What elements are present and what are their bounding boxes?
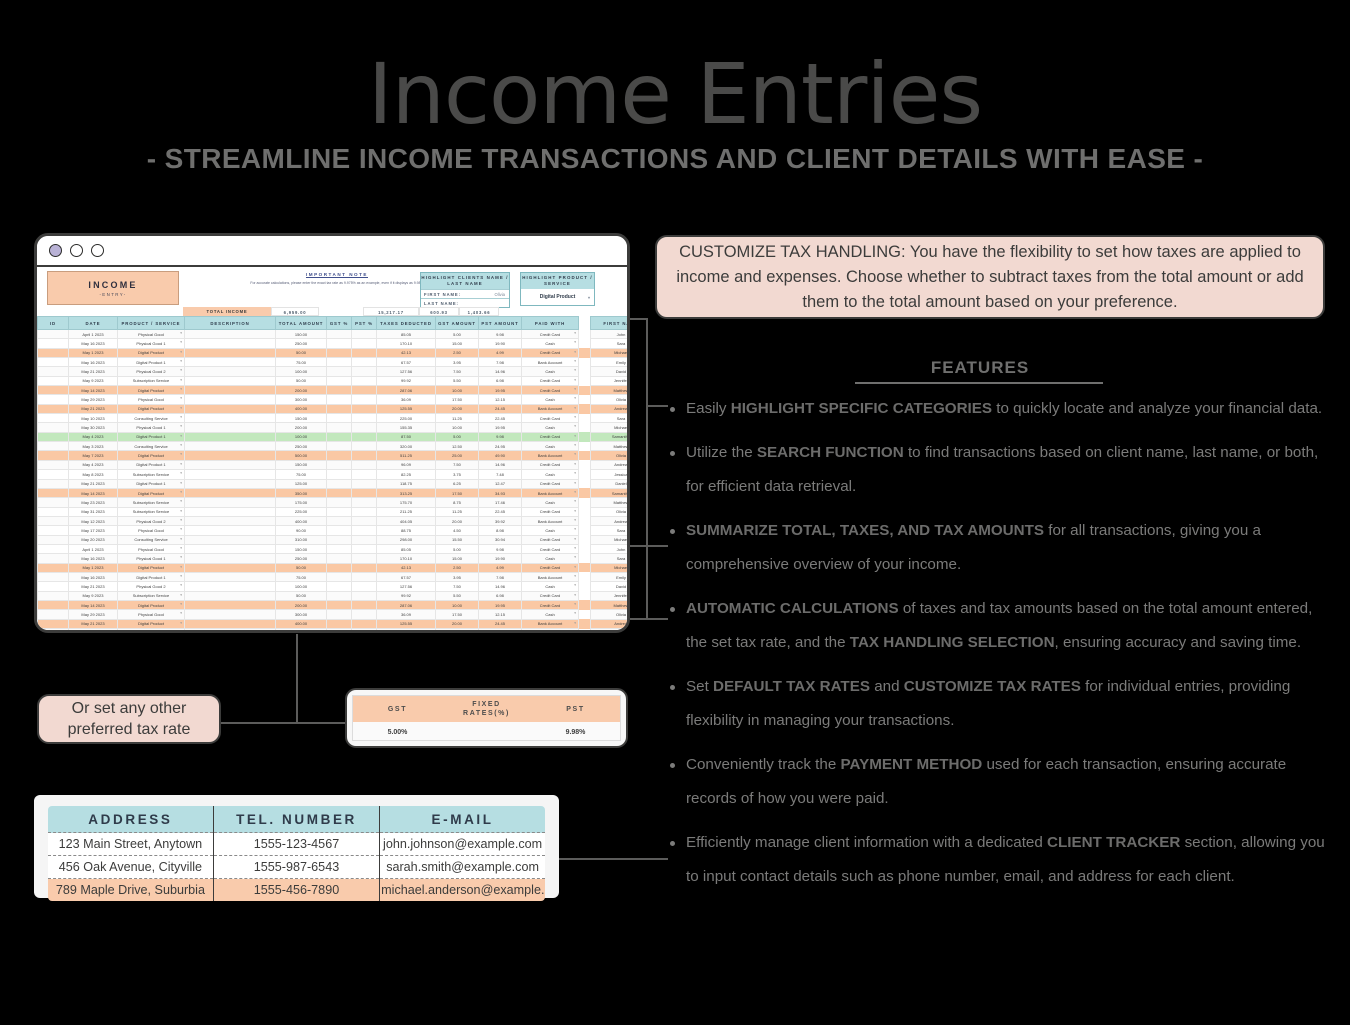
table-cell[interactable] xyxy=(327,535,352,544)
table-cell[interactable]: Jennifer xyxy=(591,376,628,385)
table-cell[interactable]: Daniel xyxy=(591,479,628,488)
col-paid-with[interactable]: PAID WITH xyxy=(522,317,579,330)
table-cell[interactable]: 511.25 xyxy=(377,451,436,460)
table-cell[interactable] xyxy=(352,395,377,404)
chevron-down-icon[interactable]: ▾ xyxy=(574,565,576,569)
table-cell[interactable] xyxy=(327,414,352,423)
chevron-down-icon[interactable]: ▾ xyxy=(574,350,576,354)
col-gst-pct[interactable]: GST % xyxy=(327,317,352,330)
table-cell[interactable]: Cash▾ xyxy=(522,554,579,563)
table-cell[interactable] xyxy=(579,619,591,628)
table-cell[interactable]: 14.96 xyxy=(479,367,522,376)
table-cell[interactable] xyxy=(352,432,377,441)
table-cell[interactable]: 14.96 xyxy=(479,582,522,591)
table-row[interactable]: May 1 2023Digital Product▾50.0042.132.50… xyxy=(38,348,628,357)
table-row[interactable]: May 4 2023Digital Product 1▾150.0096.097… xyxy=(38,460,628,469)
table-cell[interactable] xyxy=(327,386,352,395)
table-cell[interactable]: 20.00 xyxy=(436,619,479,628)
table-cell[interactable] xyxy=(327,544,352,553)
client-contact-table[interactable]: ADDRESS TEL. NUMBER E-MAIL 123 Main Stre… xyxy=(46,804,547,903)
first-name-value[interactable]: Olivia xyxy=(495,292,509,297)
table-cell[interactable] xyxy=(352,423,377,432)
chevron-down-icon[interactable]: ▾ xyxy=(180,527,182,531)
table-cell[interactable] xyxy=(38,507,69,516)
table-cell[interactable]: 211.25 xyxy=(377,507,436,516)
chevron-down-icon[interactable]: ▾ xyxy=(574,593,576,597)
table-cell[interactable] xyxy=(185,442,276,451)
table-cell[interactable]: Digital Product▾ xyxy=(118,600,185,609)
table-cell[interactable] xyxy=(327,600,352,609)
table-cell[interactable]: 500.00 xyxy=(276,451,327,460)
table-cell[interactable]: Andrew xyxy=(591,619,628,628)
highlight-clients-last-row[interactable]: LAST NAME: xyxy=(421,298,509,307)
table-row[interactable]: May 10 2023Consulting Service▾150.00225.… xyxy=(38,629,628,634)
chevron-down-icon[interactable]: ▾ xyxy=(180,424,182,428)
table-cell[interactable] xyxy=(38,563,69,572)
table-cell[interactable]: 404.05 xyxy=(377,516,436,525)
chevron-down-icon[interactable]: ▾ xyxy=(180,481,182,485)
chevron-down-icon[interactable]: ▾ xyxy=(180,462,182,466)
table-row[interactable]: May 14 2023Digital Product▾200.00287.061… xyxy=(38,600,628,609)
table-cell[interactable] xyxy=(579,479,591,488)
col-taxes-deducted[interactable]: TAXES DEDUCTED xyxy=(377,317,436,330)
table-cell[interactable]: 19.90 xyxy=(479,554,522,563)
table-cell[interactable]: 175.00 xyxy=(276,498,327,507)
table-row[interactable]: May 30 2023Physical Good 1▾200.00155.351… xyxy=(38,423,628,432)
chevron-down-icon[interactable]: ▾ xyxy=(180,518,182,522)
table-cell[interactable]: Credit Card▾ xyxy=(522,507,579,516)
table-cell[interactable]: 7.48 xyxy=(479,470,522,479)
chevron-down-icon[interactable]: ▾ xyxy=(574,368,576,372)
table-cell[interactable]: 4.99 xyxy=(479,348,522,357)
chevron-down-icon[interactable]: ▾ xyxy=(180,331,182,335)
table-cell[interactable] xyxy=(327,367,352,376)
table-cell[interactable]: Cash▾ xyxy=(522,395,579,404)
table-cell[interactable] xyxy=(185,414,276,423)
table-cell[interactable]: May 31 2023 xyxy=(69,507,118,516)
table-cell[interactable] xyxy=(352,414,377,423)
table-cell[interactable] xyxy=(352,367,377,376)
table-cell[interactable]: 36.09 xyxy=(377,610,436,619)
table-cell[interactable]: Physical Good 2▾ xyxy=(118,516,185,525)
table-cell[interactable] xyxy=(185,376,276,385)
table-row[interactable]: May 21 2023Digital Product▾400.00125.552… xyxy=(38,404,628,413)
table-cell[interactable]: 1555-123-4567 xyxy=(213,833,379,856)
table-cell[interactable]: Digital Product▾ xyxy=(118,451,185,460)
chevron-down-icon[interactable]: ▾ xyxy=(574,396,576,400)
table-cell[interactable] xyxy=(185,535,276,544)
table-cell[interactable] xyxy=(185,348,276,357)
table-cell[interactable]: May 1 2023 xyxy=(69,563,118,572)
chevron-down-icon[interactable]: ▾ xyxy=(180,583,182,587)
table-cell[interactable]: 150.00 xyxy=(276,460,327,469)
table-cell[interactable]: Jessica xyxy=(591,470,628,479)
table-cell[interactable]: 170.10 xyxy=(377,554,436,563)
table-cell[interactable]: Digital Product▾ xyxy=(118,563,185,572)
table-cell[interactable] xyxy=(579,572,591,581)
table-cell[interactable]: 3.75 xyxy=(436,470,479,479)
table-cell[interactable] xyxy=(327,442,352,451)
chevron-down-icon[interactable]: ▾ xyxy=(574,546,576,550)
table-cell[interactable]: Physical Good▾ xyxy=(118,610,185,619)
table-cell[interactable] xyxy=(38,414,69,423)
highlight-clients-first-row[interactable]: FIRST NAME: Olivia xyxy=(421,289,509,298)
table-cell[interactable]: 310.00 xyxy=(276,535,327,544)
table-cell[interactable]: 96.09 xyxy=(377,460,436,469)
table-cell[interactable]: 17.50 xyxy=(436,610,479,619)
table-cell[interactable] xyxy=(352,572,377,581)
chevron-down-icon[interactable]: ▾ xyxy=(574,359,576,363)
table-cell[interactable] xyxy=(327,376,352,385)
table-cell[interactable]: 200.00 xyxy=(276,386,327,395)
chevron-down-icon[interactable]: ▾ xyxy=(180,490,182,494)
table-cell[interactable] xyxy=(185,488,276,497)
chevron-down-icon[interactable]: ▾ xyxy=(574,415,576,419)
table-cell[interactable] xyxy=(352,544,377,553)
chevron-down-icon[interactable]: ▾ xyxy=(180,350,182,354)
table-cell[interactable]: 118.75 xyxy=(377,479,436,488)
table-cell[interactable]: Matthew xyxy=(591,498,628,507)
table-cell[interactable]: 7.98 xyxy=(479,572,522,581)
table-cell[interactable] xyxy=(352,535,377,544)
table-cell[interactable]: 15.00 xyxy=(436,339,479,348)
table-cell[interactable]: May 21 2023 xyxy=(69,582,118,591)
table-cell[interactable] xyxy=(185,404,276,413)
income-table-body[interactable]: April 1 2023Physical Good▾150.0085.055.0… xyxy=(38,330,628,634)
table-cell[interactable] xyxy=(579,563,591,572)
table-cell[interactable]: 15.50 xyxy=(436,535,479,544)
table-cell[interactable]: Sara xyxy=(591,526,628,535)
chevron-down-icon[interactable]: ▾ xyxy=(574,490,576,494)
table-cell[interactable] xyxy=(352,348,377,357)
table-cell[interactable]: 250.00 xyxy=(276,339,327,348)
col-total-amount[interactable]: TOTAL AMOUNT xyxy=(276,317,327,330)
table-cell[interactable]: 7.50 xyxy=(436,582,479,591)
table-cell[interactable] xyxy=(579,554,591,563)
table-cell[interactable] xyxy=(352,610,377,619)
table-cell[interactable]: May 10 2023 xyxy=(69,414,118,423)
table-cell[interactable]: Consulting Service▾ xyxy=(118,414,185,423)
table-cell[interactable]: 39.92 xyxy=(479,516,522,525)
table-cell[interactable]: 19.95 xyxy=(479,600,522,609)
table-cell[interactable] xyxy=(352,470,377,479)
table-row[interactable]: May 9 2023Subscription Service▾50.0099.9… xyxy=(38,376,628,385)
table-cell[interactable]: 320.00 xyxy=(377,442,436,451)
table-cell[interactable]: May 21 2023 xyxy=(69,404,118,413)
table-cell[interactable]: 300.00 xyxy=(276,610,327,619)
chevron-down-icon[interactable]: ▾ xyxy=(180,621,182,625)
table-cell[interactable]: Subscription Service▾ xyxy=(118,498,185,507)
table-row[interactable]: May 17 2023Physical Good▾90.0088.754.508… xyxy=(38,526,628,535)
table-cell[interactable]: 250.00 xyxy=(276,442,327,451)
col-date[interactable]: DATE xyxy=(69,317,118,330)
table-cell[interactable]: Subscription Service▾ xyxy=(118,470,185,479)
table-cell[interactable] xyxy=(185,470,276,479)
table-cell[interactable] xyxy=(579,386,591,395)
table-cell[interactable]: 82.25 xyxy=(377,470,436,479)
table-cell[interactable] xyxy=(185,554,276,563)
chevron-down-icon[interactable]: ▾ xyxy=(574,452,576,456)
table-cell[interactable]: 1555-456-7890 xyxy=(213,879,379,903)
table-row[interactable]: May 10 2023Consulting Service▾150.00225.… xyxy=(38,414,628,423)
table-cell[interactable] xyxy=(38,516,69,525)
table-cell[interactable] xyxy=(327,432,352,441)
table-cell[interactable]: Sara xyxy=(591,554,628,563)
table-cell[interactable]: Digital Product 1▾ xyxy=(118,572,185,581)
table-row[interactable]: 123 Main Street, Anytown1555-123-4567joh… xyxy=(47,833,546,856)
table-cell[interactable]: 75.00 xyxy=(276,572,327,581)
table-row[interactable]: May 21 2023Physical Good 2▾100.00127.567… xyxy=(38,582,628,591)
table-cell[interactable] xyxy=(185,479,276,488)
table-row[interactable]: April 1 2023Physical Good▾150.0085.055.0… xyxy=(38,330,628,339)
table-cell[interactable]: May 14 2023 xyxy=(69,386,118,395)
table-cell[interactable]: 4.99 xyxy=(479,563,522,572)
table-cell[interactable] xyxy=(185,460,276,469)
chevron-down-icon[interactable]: ▾ xyxy=(574,331,576,335)
table-cell[interactable]: michael.anderson@example.com xyxy=(380,879,546,903)
table-cell[interactable] xyxy=(38,330,69,339)
table-cell[interactable] xyxy=(579,451,591,460)
chevron-down-icon[interactable]: ▾ xyxy=(180,546,182,550)
table-row[interactable]: May 21 2023Digital Product▾400.00125.552… xyxy=(38,619,628,628)
table-cell[interactable] xyxy=(579,544,591,553)
table-cell[interactable] xyxy=(38,367,69,376)
table-cell[interactable] xyxy=(579,367,591,376)
table-cell[interactable]: 127.56 xyxy=(377,367,436,376)
chevron-down-icon[interactable]: ▾ xyxy=(180,537,182,541)
table-cell[interactable]: May 17 2023 xyxy=(69,526,118,535)
table-row[interactable]: May 16 2023Physical Good 1▾250.00170.101… xyxy=(38,554,628,563)
table-cell[interactable] xyxy=(352,591,377,600)
table-cell[interactable] xyxy=(352,498,377,507)
table-cell[interactable]: 225.00 xyxy=(276,507,327,516)
chevron-down-icon[interactable]: ▾ xyxy=(574,378,576,382)
table-cell[interactable] xyxy=(38,479,69,488)
table-cell[interactable]: Consulting Service▾ xyxy=(118,535,185,544)
table-cell[interactable] xyxy=(352,451,377,460)
table-cell[interactable] xyxy=(327,460,352,469)
table-cell[interactable] xyxy=(185,451,276,460)
col-id[interactable]: ID xyxy=(38,317,69,330)
table-cell[interactable] xyxy=(579,460,591,469)
table-cell[interactable]: 10.00 xyxy=(436,423,479,432)
col-gst-amount[interactable]: GST AMOUNT xyxy=(436,317,479,330)
table-cell[interactable]: May 16 2023 xyxy=(69,358,118,367)
table-cell[interactable] xyxy=(327,330,352,339)
table-cell[interactable]: Digital Product▾ xyxy=(118,386,185,395)
table-cell[interactable]: Cash▾ xyxy=(522,498,579,507)
table-cell[interactable]: 7.50 xyxy=(436,460,479,469)
table-cell[interactable]: May 4 2023 xyxy=(69,432,118,441)
table-cell[interactable]: Credit Card▾ xyxy=(522,544,579,553)
table-row[interactable]: May 7 2023Digital Product▾500.00511.2525… xyxy=(38,451,628,460)
table-cell[interactable]: Digital Product 1▾ xyxy=(118,358,185,367)
table-cell[interactable] xyxy=(38,460,69,469)
table-cell[interactable]: 400.00 xyxy=(276,619,327,628)
table-cell[interactable]: Digital Product 1▾ xyxy=(118,432,185,441)
table-cell[interactable] xyxy=(38,572,69,581)
table-cell[interactable] xyxy=(352,488,377,497)
table-cell[interactable]: 22.45 xyxy=(479,629,522,634)
table-cell[interactable]: 123 Main Street, Anytown xyxy=(47,833,213,856)
table-cell[interactable] xyxy=(185,330,276,339)
table-row[interactable]: May 23 2023Subscription Service▾175.0017… xyxy=(38,498,628,507)
table-cell[interactable] xyxy=(579,600,591,609)
table-cell[interactable] xyxy=(327,619,352,628)
table-cell[interactable] xyxy=(352,554,377,563)
table-cell[interactable]: 42.13 xyxy=(377,563,436,572)
table-cell[interactable] xyxy=(352,629,377,634)
chevron-down-icon[interactable]: ▾ xyxy=(180,593,182,597)
table-cell[interactable]: May 30 2023 xyxy=(69,423,118,432)
col-pst-pct[interactable]: PST % xyxy=(352,317,377,330)
table-row[interactable]: May 20 2023Consulting Service▾310.00298.… xyxy=(38,535,628,544)
table-cell[interactable]: 75.00 xyxy=(276,470,327,479)
table-cell[interactable]: 12.47 xyxy=(479,479,522,488)
table-cell[interactable]: 85.05 xyxy=(377,330,436,339)
table-cell[interactable] xyxy=(38,544,69,553)
table-cell[interactable]: Bank Account▾ xyxy=(522,358,579,367)
table-cell[interactable]: Cash▾ xyxy=(522,339,579,348)
table-cell[interactable]: 67.57 xyxy=(377,572,436,581)
table-cell[interactable] xyxy=(38,610,69,619)
table-row[interactable]: May 14 2023Digital Product▾200.00287.061… xyxy=(38,386,628,395)
table-cell[interactable]: 6.98 xyxy=(479,376,522,385)
table-row[interactable]: 456 Oak Avenue, Cityville1555-987-6543sa… xyxy=(47,856,546,879)
table-cell[interactable]: Subscription Service▾ xyxy=(118,376,185,385)
table-cell[interactable]: 7.98 xyxy=(479,358,522,367)
table-cell[interactable]: May 9 2023 xyxy=(69,376,118,385)
table-cell[interactable] xyxy=(352,516,377,525)
highlight-product-select[interactable]: Digital Product ▾ xyxy=(521,289,594,305)
table-cell[interactable]: 50.00 xyxy=(276,376,327,385)
table-cell[interactable]: 99.92 xyxy=(377,591,436,600)
table-cell[interactable]: Michael xyxy=(591,348,628,357)
table-row[interactable]: 789 Maple Drive, Suburbia1555-456-7890mi… xyxy=(47,879,546,903)
table-cell[interactable]: John xyxy=(591,330,628,339)
table-cell[interactable]: 400.00 xyxy=(276,516,327,525)
table-cell[interactable]: May 4 2023 xyxy=(69,460,118,469)
table-cell[interactable]: 20.00 xyxy=(436,404,479,413)
pst-value[interactable]: 9.98% xyxy=(531,729,620,736)
table-cell[interactable] xyxy=(38,591,69,600)
table-cell[interactable]: 12.50 xyxy=(436,442,479,451)
table-cell[interactable] xyxy=(579,423,591,432)
table-cell[interactable]: May 3 2023 xyxy=(69,442,118,451)
table-cell[interactable] xyxy=(579,470,591,479)
table-cell[interactable]: Physical Good▾ xyxy=(118,544,185,553)
table-cell[interactable]: 11.25 xyxy=(436,507,479,516)
table-cell[interactable] xyxy=(352,526,377,535)
table-cell[interactable]: 85.05 xyxy=(377,544,436,553)
table-cell[interactable]: 100.00 xyxy=(276,582,327,591)
table-cell[interactable] xyxy=(38,582,69,591)
chevron-down-icon[interactable]: ▾ xyxy=(180,499,182,503)
table-cell[interactable]: 19.95 xyxy=(479,386,522,395)
table-cell[interactable] xyxy=(38,348,69,357)
table-cell[interactable] xyxy=(38,395,69,404)
table-cell[interactable] xyxy=(38,600,69,609)
table-cell[interactable]: May 16 2023 xyxy=(69,554,118,563)
table-cell[interactable]: 42.13 xyxy=(377,348,436,357)
table-cell[interactable] xyxy=(38,629,69,634)
table-cell[interactable] xyxy=(579,629,591,634)
chevron-down-icon[interactable]: ▾ xyxy=(574,443,576,447)
table-cell[interactable]: Michael xyxy=(591,535,628,544)
table-cell[interactable] xyxy=(327,563,352,572)
table-cell[interactable]: Digital Product▾ xyxy=(118,404,185,413)
table-cell[interactable] xyxy=(579,395,591,404)
table-cell[interactable]: 75.00 xyxy=(276,358,327,367)
table-cell[interactable]: 24.45 xyxy=(479,404,522,413)
table-cell[interactable] xyxy=(327,610,352,619)
table-cell[interactable]: Andrew xyxy=(591,516,628,525)
table-cell[interactable]: 11.25 xyxy=(436,414,479,423)
table-cell[interactable] xyxy=(327,507,352,516)
table-cell[interactable]: Credit Card▾ xyxy=(522,479,579,488)
table-cell[interactable]: 313.25 xyxy=(377,488,436,497)
table-cell[interactable] xyxy=(38,554,69,563)
table-cell[interactable]: 125.55 xyxy=(377,619,436,628)
table-cell[interactable]: May 21 2023 xyxy=(69,367,118,376)
table-cell[interactable] xyxy=(579,516,591,525)
table-cell[interactable]: 34.93 xyxy=(479,488,522,497)
table-cell[interactable]: May 21 2023 xyxy=(69,479,118,488)
table-cell[interactable]: May 23 2023 xyxy=(69,498,118,507)
table-cell[interactable] xyxy=(352,507,377,516)
table-cell[interactable] xyxy=(185,600,276,609)
table-cell[interactable] xyxy=(38,376,69,385)
table-cell[interactable]: 3.95 xyxy=(436,358,479,367)
table-cell[interactable]: 127.56 xyxy=(377,582,436,591)
table-cell[interactable]: Olivia xyxy=(591,395,628,404)
table-cell[interactable] xyxy=(38,535,69,544)
table-cell[interactable] xyxy=(185,507,276,516)
table-cell[interactable]: Matthew xyxy=(591,442,628,451)
table-cell[interactable] xyxy=(327,358,352,367)
table-cell[interactable]: 10.00 xyxy=(436,600,479,609)
table-cell[interactable] xyxy=(579,442,591,451)
table-cell[interactable]: Credit Card▾ xyxy=(522,460,579,469)
table-cell[interactable]: 150.00 xyxy=(276,629,327,634)
table-cell[interactable]: 19.95 xyxy=(479,423,522,432)
table-cell[interactable]: 125.00 xyxy=(276,479,327,488)
table-cell[interactable]: 6.98 xyxy=(479,591,522,600)
table-cell[interactable]: 5.50 xyxy=(436,376,479,385)
table-cell[interactable] xyxy=(352,358,377,367)
table-cell[interactable] xyxy=(185,358,276,367)
table-cell[interactable]: 50.00 xyxy=(276,563,327,572)
table-cell[interactable]: May 10 2023 xyxy=(69,629,118,634)
table-cell[interactable]: Digital Product▾ xyxy=(118,488,185,497)
table-cell[interactable] xyxy=(579,348,591,357)
table-cell[interactable]: 15.00 xyxy=(436,554,479,563)
table-cell[interactable]: Bank Account▾ xyxy=(522,404,579,413)
table-row[interactable]: April 1 2023Physical Good▾150.0085.055.0… xyxy=(38,544,628,553)
table-cell[interactable]: Cash▾ xyxy=(522,582,579,591)
table-cell[interactable] xyxy=(327,516,352,525)
table-cell[interactable]: April 1 2023 xyxy=(69,330,118,339)
table-cell[interactable]: 125.55 xyxy=(377,404,436,413)
chevron-down-icon[interactable]: ▾ xyxy=(180,611,182,615)
chevron-down-icon[interactable]: ▾ xyxy=(574,611,576,615)
table-cell[interactable]: Credit Card▾ xyxy=(522,629,579,634)
table-row[interactable]: May 8 2023Subscription Service▾75.0082.2… xyxy=(38,470,628,479)
table-cell[interactable]: 5.00 xyxy=(436,544,479,553)
table-cell[interactable]: 287.06 xyxy=(377,600,436,609)
table-cell[interactable]: Emily xyxy=(591,358,628,367)
table-cell[interactable]: 12.15 xyxy=(479,395,522,404)
